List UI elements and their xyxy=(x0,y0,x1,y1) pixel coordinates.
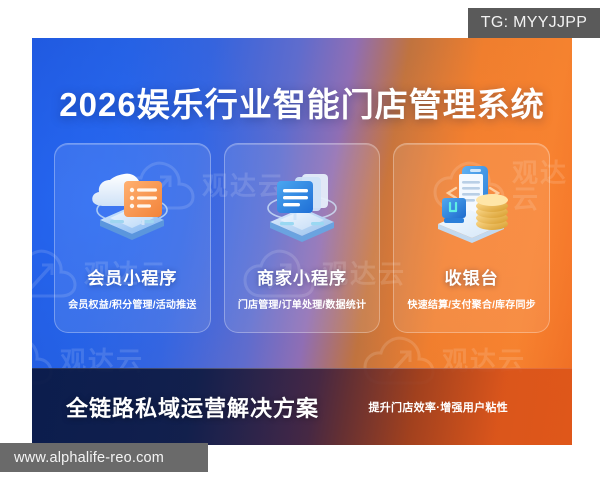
feature-card-subtitle: 会员权益/积分管理/活动推送 xyxy=(68,296,196,311)
promo-poster: 观达云 观达云 观达云 xyxy=(32,38,572,445)
cloud-document-icon xyxy=(80,158,184,254)
feature-card-subtitle: 门店管理/订单处理/数据统计 xyxy=(238,296,366,311)
feature-card-member[interactable]: 会员小程序 会员权益/积分管理/活动推送 xyxy=(54,143,211,333)
telegram-handle-text: TG: MYYJJPP xyxy=(481,14,587,32)
feature-card-title: 收银台 xyxy=(445,264,499,289)
pos-coins-icon xyxy=(420,158,524,254)
website-url-badge: www.alphalife-reo.com xyxy=(0,443,208,472)
feature-card-merchant[interactable]: 商家小程序 门店管理/订单处理/数据统计 xyxy=(224,143,381,333)
website-url-text: www.alphalife-reo.com xyxy=(14,450,164,466)
feature-card-subtitle: 快速结算/支付聚合/库存同步 xyxy=(408,296,536,311)
feature-card-title: 商家小程序 xyxy=(257,264,347,289)
poster-footer-band: 全链路私域运营解决方案 提升门店效率·增强用户粘性 xyxy=(32,368,572,445)
poster-headline: 2026娱乐行业智能门店管理系统 xyxy=(32,78,572,126)
stacked-cards-icon xyxy=(250,158,354,254)
telegram-handle-badge: TG: MYYJJPP xyxy=(468,8,600,38)
footer-subtitle: 提升门店效率·增强用户粘性 xyxy=(368,399,508,415)
feature-card-title: 会员小程序 xyxy=(87,264,177,289)
feature-card-cashier[interactable]: 收银台 快速结算/支付聚合/库存同步 xyxy=(393,143,550,333)
footer-title: 全链路私域运营解决方案 xyxy=(66,391,319,423)
feature-card-row: 会员小程序 会员权益/积分管理/活动推送 xyxy=(54,143,550,333)
